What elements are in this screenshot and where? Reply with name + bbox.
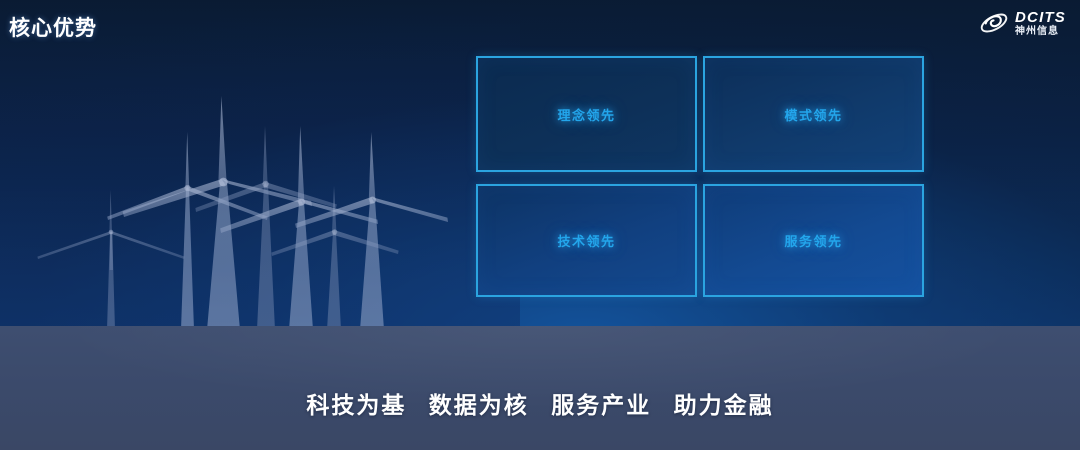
turbine-tall-slim-center xyxy=(220,126,378,330)
logo-text: DCITS 神州信息 xyxy=(1015,10,1066,37)
tagline-part-2: 数据为核 xyxy=(429,392,529,418)
card-label: 模式领先 xyxy=(784,105,842,124)
card-concept-leading[interactable]: 理念领先 xyxy=(476,56,697,172)
tagline-part-1: 科技为基 xyxy=(306,392,406,418)
tagline-part-4: 助力金融 xyxy=(674,392,774,418)
brand-logo: DCITS 神州信息 xyxy=(979,9,1066,37)
tagline-part-3: 服务产业 xyxy=(551,392,651,418)
advantage-card-grid: 理念领先 模式领先 技术领先 服务领先 xyxy=(476,56,924,297)
card-label: 服务领先 xyxy=(784,231,842,250)
turbine-tall-center xyxy=(123,96,312,330)
logo-name-cn: 神州信息 xyxy=(1015,27,1066,37)
spiral-galaxy-icon xyxy=(979,9,1009,37)
card-label: 技术领先 xyxy=(557,231,615,250)
card-model-leading[interactable]: 模式领先 xyxy=(703,56,924,172)
turbine-small-left xyxy=(37,190,184,330)
card-label: 理念领先 xyxy=(557,105,615,124)
page-title: 核心优势 xyxy=(9,12,97,42)
turbine-medium-left xyxy=(107,132,268,330)
card-technology-leading[interactable]: 技术领先 xyxy=(476,184,697,297)
logo-name-en: DCITS xyxy=(1015,10,1066,25)
card-service-leading[interactable]: 服务领先 xyxy=(703,184,924,297)
footer-tagline: 科技为基 数据为核 服务产业 助力金融 xyxy=(0,386,1080,420)
slide-root: 核心优势 DCITS 神州信息 理念领先 模式领先 技术领先 服务领先 科技为基 xyxy=(0,0,1080,450)
turbine-tall-right xyxy=(295,132,448,330)
